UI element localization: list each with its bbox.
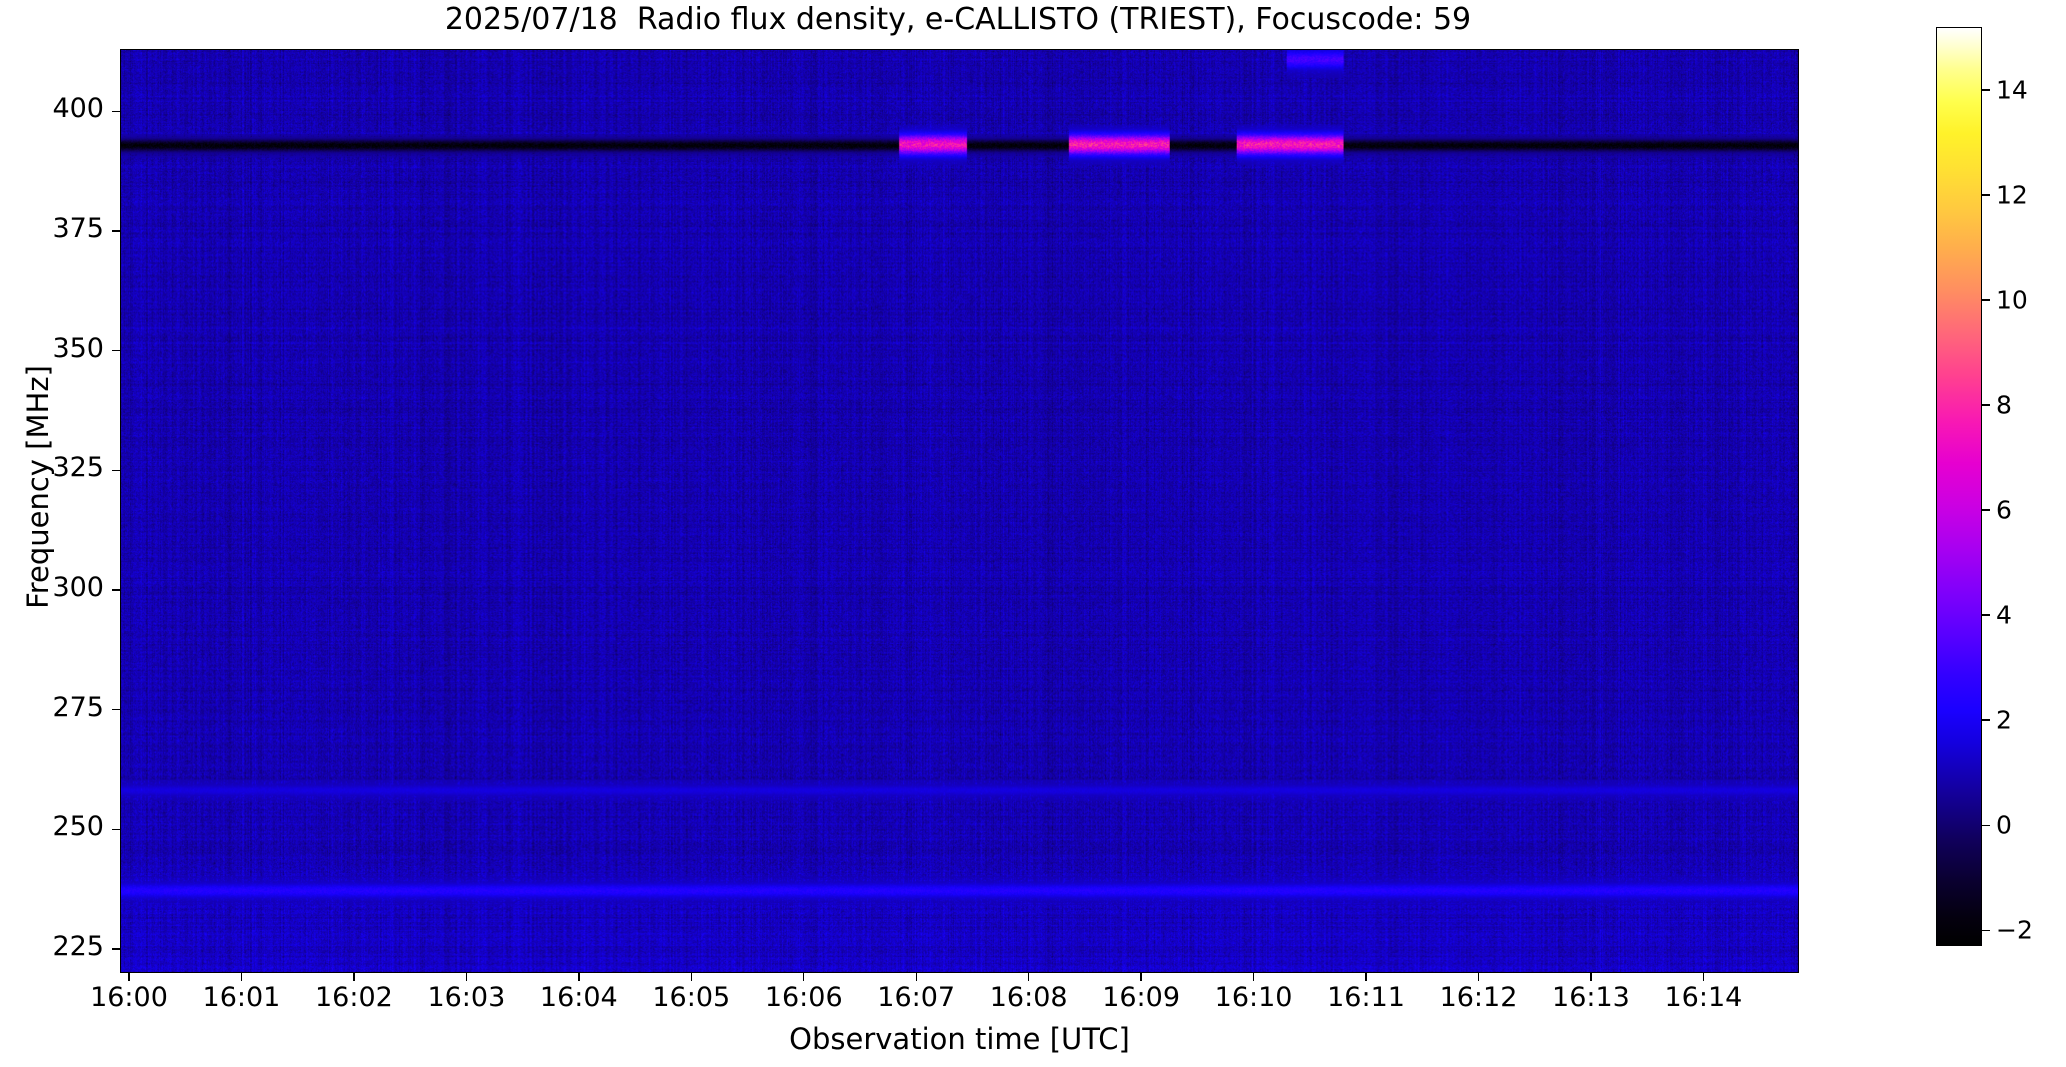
x-tick-label: 16:14 — [1665, 982, 1743, 1013]
colorbar-tick-mark — [1982, 404, 1990, 405]
y-tick-label: 325 — [52, 452, 104, 483]
x-tick-label: 16:00 — [90, 982, 168, 1013]
colorbar-tick-label: 0 — [1996, 811, 2012, 840]
y-tick-mark — [112, 589, 120, 590]
colorbar-tick-mark — [1982, 299, 1990, 300]
colorbar-tick-label: 12 — [1996, 181, 2028, 210]
y-tick-label: 375 — [52, 213, 104, 244]
x-tick-label: 16:10 — [1215, 982, 1293, 1013]
x-tick-mark — [1478, 973, 1479, 981]
x-tick-mark — [1703, 973, 1704, 981]
x-tick-mark — [1140, 973, 1141, 981]
colorbar-tick-mark — [1982, 719, 1990, 720]
colorbar-tick-label: 2 — [1996, 706, 2012, 735]
x-tick-label: 16:06 — [765, 982, 843, 1013]
colorbar-tick-mark — [1982, 89, 1990, 90]
page-title: 2025/07/18 Radio flux density, e-CALLIST… — [0, 2, 1916, 37]
x-tick-label: 16:03 — [427, 982, 505, 1013]
colorbar-tick-label: 4 — [1996, 601, 2012, 630]
x-tick-mark — [241, 973, 242, 981]
y-tick-label: 225 — [52, 931, 104, 962]
colorbar-tick-label: 6 — [1996, 496, 2012, 525]
y-tick-mark — [112, 470, 120, 471]
colorbar-tick-label: 8 — [1996, 391, 2012, 420]
y-tick-mark — [112, 948, 120, 949]
colorbar-tick-label: 10 — [1996, 286, 2028, 315]
x-tick-mark — [1365, 973, 1366, 981]
y-axis-label: Frequency [MHz] — [21, 257, 55, 717]
x-tick-label: 16:05 — [652, 982, 730, 1013]
y-tick-mark — [112, 709, 120, 710]
spectrogram-figure: 2025/07/18 Radio flux density, e-CALLIST… — [0, 0, 2066, 1067]
spectrogram-plot-area[interactable] — [120, 49, 1799, 973]
x-tick-mark — [353, 973, 354, 981]
x-axis-label: Observation time [UTC] — [120, 1022, 1799, 1056]
x-tick-label: 16:04 — [540, 982, 618, 1013]
y-tick-label: 400 — [52, 93, 104, 124]
x-tick-label: 16:01 — [203, 982, 281, 1013]
x-tick-label: 16:07 — [877, 982, 955, 1013]
spectrogram-image — [121, 50, 1798, 972]
x-tick-mark — [803, 973, 804, 981]
x-tick-mark — [1590, 973, 1591, 981]
colorbar-tick-mark — [1982, 930, 1990, 931]
y-tick-mark — [112, 111, 120, 112]
colorbar-tick-mark — [1982, 509, 1990, 510]
x-tick-label: 16:13 — [1552, 982, 1630, 1013]
x-tick-label: 16:02 — [315, 982, 393, 1013]
x-tick-mark — [466, 973, 467, 981]
colorbar-tick-mark — [1982, 194, 1990, 195]
x-tick-mark — [1028, 973, 1029, 981]
x-tick-mark — [128, 973, 129, 981]
x-tick-label: 16:11 — [1327, 982, 1405, 1013]
y-tick-label: 350 — [52, 333, 104, 364]
colorbar — [1936, 27, 1982, 946]
x-tick-label: 16:08 — [990, 982, 1068, 1013]
x-tick-mark — [1253, 973, 1254, 981]
y-tick-mark — [112, 350, 120, 351]
colorbar-tick-label: −2 — [1996, 916, 2033, 945]
colorbar-tick-mark — [1982, 614, 1990, 615]
x-tick-mark — [916, 973, 917, 981]
y-tick-label: 300 — [52, 572, 104, 603]
x-tick-label: 16:12 — [1440, 982, 1518, 1013]
y-tick-label: 250 — [52, 811, 104, 842]
colorbar-tick-mark — [1982, 825, 1990, 826]
x-tick-mark — [578, 973, 579, 981]
y-tick-mark — [112, 230, 120, 231]
colorbar-tick-label: 14 — [1996, 76, 2028, 105]
y-tick-label: 275 — [52, 692, 104, 723]
x-tick-mark — [691, 973, 692, 981]
x-tick-label: 16:09 — [1102, 982, 1180, 1013]
y-tick-mark — [112, 829, 120, 830]
